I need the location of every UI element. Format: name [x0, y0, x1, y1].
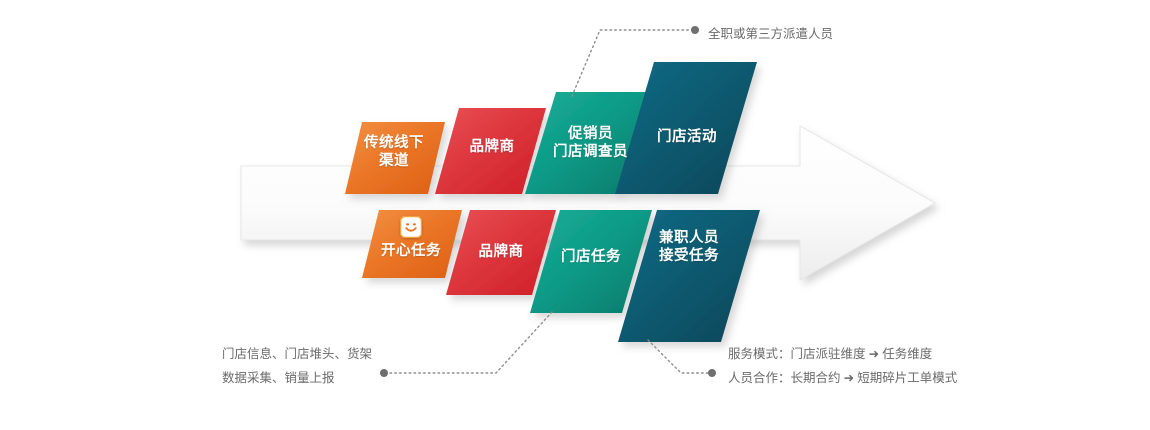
diagram-vector-layer: [0, 0, 1150, 430]
connector-bottom-left: [388, 312, 552, 373]
diagram-canvas: 传统线下 渠道 品牌商 促销员 门店调查员 门店活动 开心任务 品牌商 门店任务…: [0, 0, 1150, 430]
bottom-step-1-shape[interactable]: [362, 210, 462, 278]
top-step-1-shape[interactable]: [345, 122, 445, 194]
annotation-bottom-right: 服务模式：门店派驻维度 ➜ 任务维度 人员合作：长期合约 ➜ 短期碎片工单模式: [728, 342, 957, 391]
connector-dot-bottom-left: [380, 369, 388, 377]
top-row-shapes: [345, 62, 757, 194]
connector-dot-top-right: [691, 26, 699, 34]
annotation-bottom-left: 门店信息、门店堆头、货架 数据采集、销量上报: [222, 342, 372, 391]
connector-dot-bottom-right: [708, 369, 716, 377]
annotation-top-right: 全职或第三方派遣人员: [708, 22, 833, 46]
bottom-row-shapes: [362, 210, 760, 342]
connector-bottom-right: [648, 340, 708, 373]
